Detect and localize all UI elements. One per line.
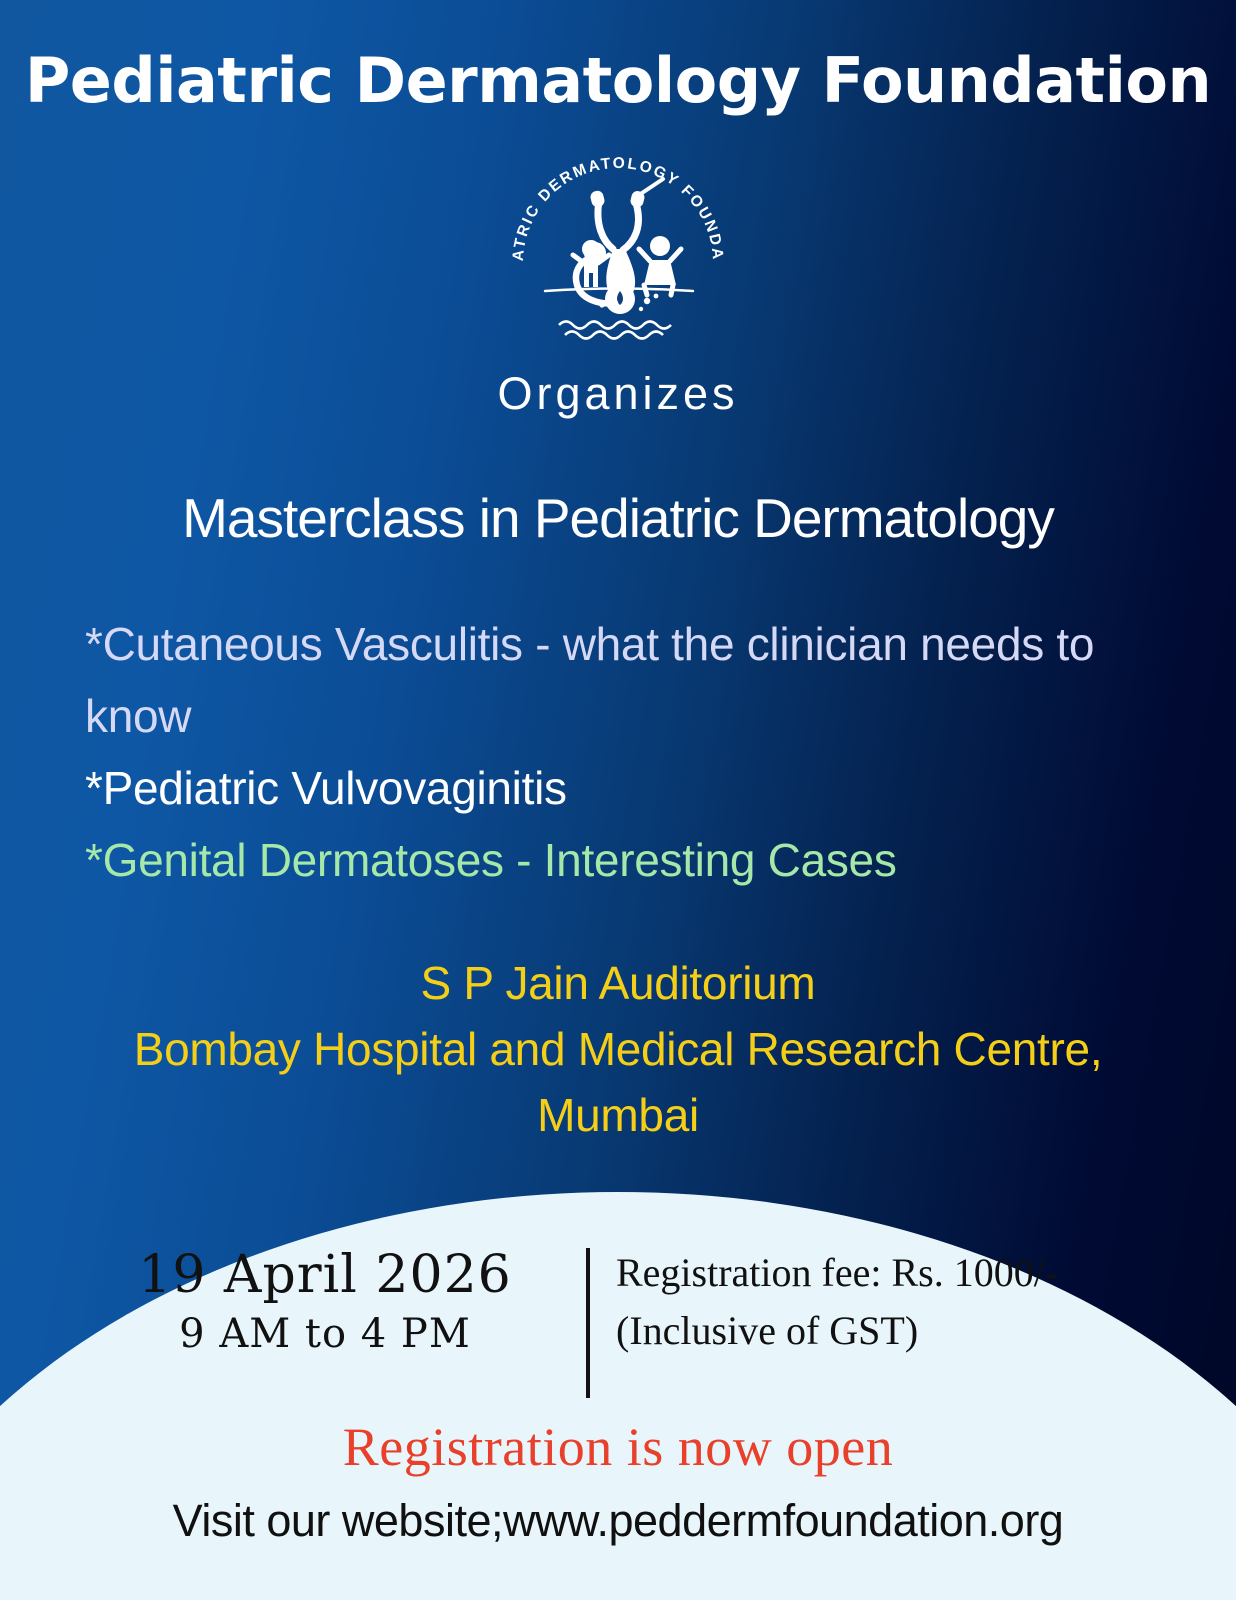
venue-line-auditorium: S P Jain Auditorium <box>35 950 1201 1016</box>
venue-block: S P Jain Auditorium Bombay Hospital and … <box>35 950 1201 1148</box>
foundation-logo: PEDIATRIC DERMATOLOGY FOUNDATION <box>503 145 733 350</box>
topic-item: *Genital Dermatoses - Interesting Cases <box>85 824 1155 896</box>
venue-line-hospital: Bombay Hospital and Medical Research Cen… <box>35 1016 1201 1082</box>
venue-line-city: Mumbai <box>35 1082 1201 1148</box>
registration-fee: Registration fee: Rs. 1000/- <box>616 1244 1150 1302</box>
registration-fee-note: (Inclusive of GST) <box>616 1302 1150 1360</box>
bottom-panel-content: 19 April 2026 9 AM to 4 PM Registration … <box>0 1192 1236 1600</box>
event-time: 9 AM to 4 PM <box>86 1306 564 1362</box>
topic-item: *Pediatric Vulvovaginitis <box>85 752 1155 824</box>
registration-status: Registration is now open <box>0 1414 1236 1480</box>
svg-text:PEDIATRIC DERMATOLOGY FOUNDATI: PEDIATRIC DERMATOLOGY FOUNDATION <box>503 145 726 262</box>
topic-list: *Cutaneous Vasculitis - what the clinici… <box>85 608 1155 896</box>
organization-title: Pediatric Dermatology Foundation <box>0 48 1236 113</box>
fee-block: Registration fee: Rs. 1000/- (Inclusive … <box>590 1244 1150 1360</box>
website-link[interactable]: Visit our website;www.peddermfoundation.… <box>0 1490 1236 1552</box>
date-fee-row: 19 April 2026 9 AM to 4 PM Registration … <box>0 1244 1236 1398</box>
event-poster: Pediatric Dermatology Foundation PEDIATR… <box>0 0 1236 1600</box>
organizes-label: Organizes <box>0 368 1236 420</box>
topic-item: *Cutaneous Vasculitis - what the clinici… <box>85 608 1155 752</box>
date-time-block: 19 April 2026 9 AM to 4 PM <box>86 1244 586 1362</box>
event-date: 19 April 2026 <box>86 1244 564 1306</box>
event-title: Masterclass in Pediatric Dermatology <box>0 486 1236 550</box>
